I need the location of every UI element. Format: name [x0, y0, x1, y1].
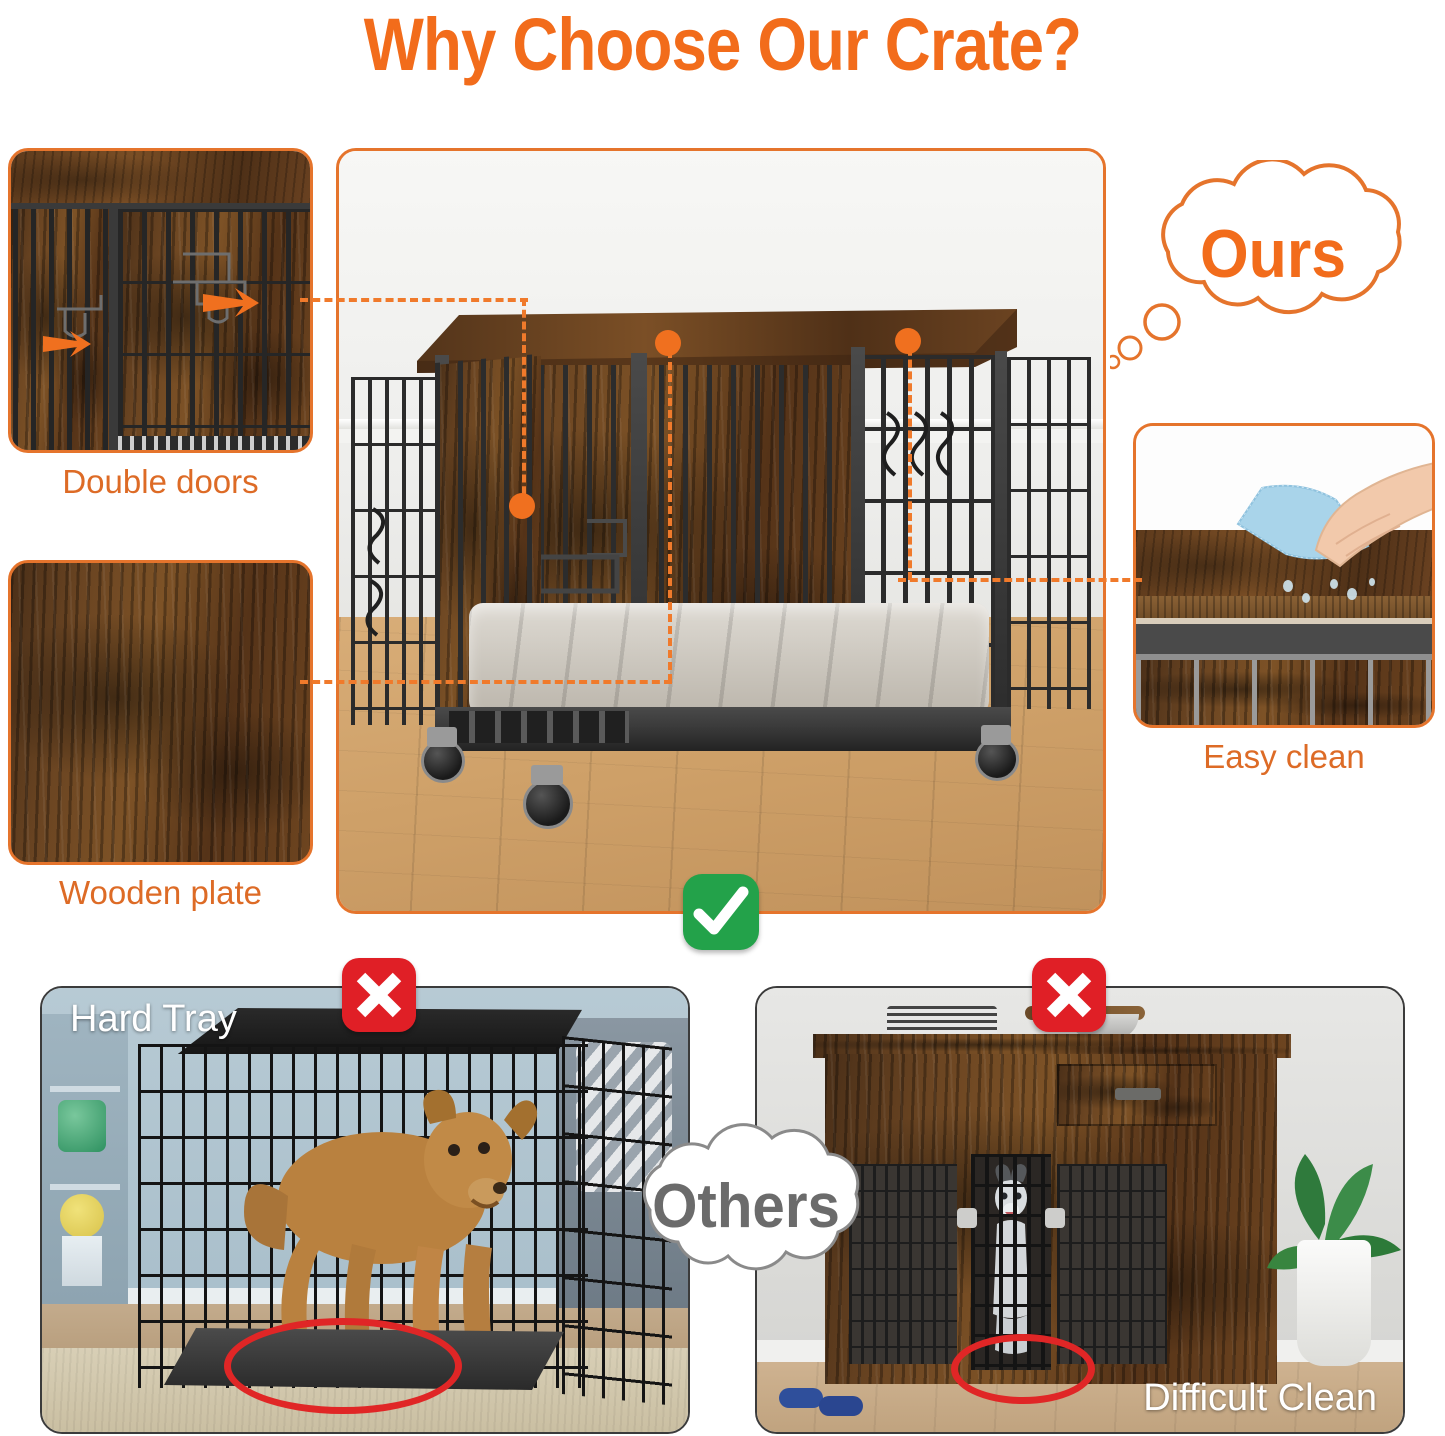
good-badge: [683, 874, 759, 950]
main-product-panel: [336, 148, 1106, 914]
latch-icon: [535, 551, 625, 597]
connector-dot-wooden-plate: [655, 330, 681, 356]
hand-icon: [1306, 454, 1435, 574]
red-highlight-ellipse: [951, 1334, 1095, 1404]
x-icon: [1032, 958, 1106, 1032]
caption-wooden-plate: Wooden plate: [8, 874, 313, 912]
connector-dot-double-doors: [509, 493, 535, 519]
feature-panel-wooden-plate: [8, 560, 313, 865]
caster-wheel: [523, 779, 573, 829]
orange-arrow-icon: [41, 329, 93, 359]
comparison-panel-hard-tray: Hard Tray: [40, 986, 690, 1434]
main-crate-photo: [339, 151, 1103, 911]
connector-line-double-doors-vertical: [522, 298, 526, 506]
bad-badge-left: [342, 958, 416, 1032]
caption-double-doors: Double doors: [8, 463, 313, 501]
connector-line-easy-clean-vertical: [908, 336, 912, 580]
hard-tray-photo: [42, 988, 688, 1432]
caption-easy-clean: Easy clean: [1133, 738, 1435, 776]
infographic-page: Why Choose Our Crate?: [0, 0, 1445, 1436]
water-droplets-icon: [1276, 576, 1386, 612]
double-doors-photo: [11, 151, 310, 450]
connector-line-wooden-plate-vertical: [668, 338, 672, 682]
bad-badge-right: [1032, 958, 1106, 1032]
feature-panel-double-doors: [8, 148, 313, 453]
wire-hook-icon: [359, 503, 403, 643]
connector-line-wooden-plate: [300, 680, 672, 684]
ours-bubble-tail-icon: [1110, 300, 1200, 370]
others-bubble-text: Others: [605, 1118, 887, 1300]
difficult-clean-label: Difficult Clean: [1143, 1377, 1377, 1420]
orange-arrow-icon: [201, 286, 261, 320]
wire-hook-icon: [871, 405, 967, 491]
check-icon: [683, 874, 759, 950]
connector-line-double-doors: [300, 298, 528, 302]
page-title: Why Choose Our Crate?: [101, 2, 1344, 87]
red-highlight-ellipse: [224, 1318, 462, 1414]
connector-line-easy-clean: [898, 578, 1142, 582]
others-bubble: Others: [596, 1118, 896, 1300]
easy-clean-photo: [1136, 426, 1432, 725]
connector-dot-easy-clean: [895, 328, 921, 354]
hard-tray-label: Hard Tray: [70, 998, 237, 1041]
feature-panel-easy-clean: [1133, 423, 1435, 728]
x-icon: [342, 958, 416, 1032]
